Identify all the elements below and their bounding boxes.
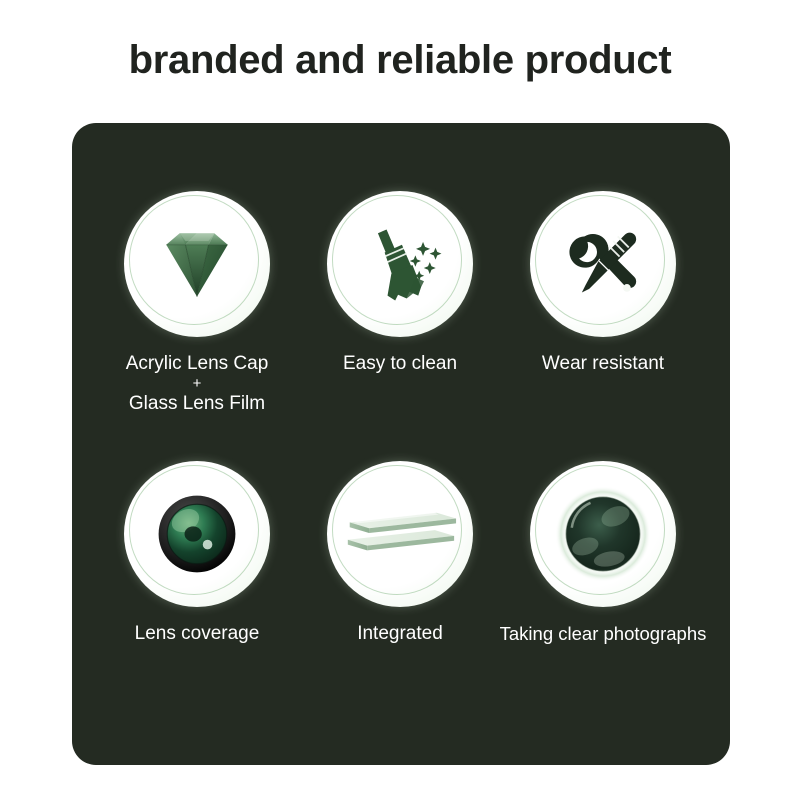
feature-label: Easy to clean	[291, 351, 509, 376]
feature-grid: Acrylic Lens Cap + Glass Lens Film	[72, 123, 730, 765]
feature-label: Lens coverage	[88, 621, 306, 646]
feature-label: Acrylic Lens Cap + Glass Lens Film	[88, 351, 306, 416]
camera-lens-icon	[149, 486, 245, 582]
feature-item-lens-coverage[interactable]: Lens coverage	[88, 461, 306, 646]
feature-label: Taking clear photographs	[494, 621, 712, 646]
water-droplet-icon	[551, 482, 655, 586]
feature-badge	[530, 461, 676, 607]
broom-sparkle-icon	[352, 216, 448, 312]
feature-item-taking-clear-photographs[interactable]: Taking clear photographs	[494, 461, 712, 646]
feature-item-integrated[interactable]: Integrated	[291, 461, 509, 646]
feature-panel: Acrylic Lens Cap + Glass Lens Film	[72, 123, 730, 765]
feature-label: Wear resistant	[494, 351, 712, 376]
glass-sheets-icon	[342, 476, 458, 592]
feature-badge	[530, 191, 676, 337]
page-title: branded and reliable product	[0, 36, 800, 84]
feature-badge	[124, 191, 270, 337]
feature-badge	[327, 461, 473, 607]
feature-badge	[327, 191, 473, 337]
feature-label: Integrated	[291, 621, 509, 646]
feature-label-line-3: Glass Lens Film	[129, 393, 265, 414]
feature-item-acrylic-lens-cap[interactable]: Acrylic Lens Cap + Glass Lens Film	[88, 191, 306, 416]
feature-item-wear-resistant[interactable]: Wear resistant	[494, 191, 712, 376]
feature-label-line-1: Acrylic Lens Cap	[126, 353, 269, 374]
feature-label-line-2: +	[88, 376, 306, 391]
diamond-icon	[149, 216, 245, 312]
feature-item-easy-to-clean[interactable]: Easy to clean	[291, 191, 509, 376]
feature-badge	[124, 461, 270, 607]
wrench-screwdriver-icon	[557, 218, 649, 310]
